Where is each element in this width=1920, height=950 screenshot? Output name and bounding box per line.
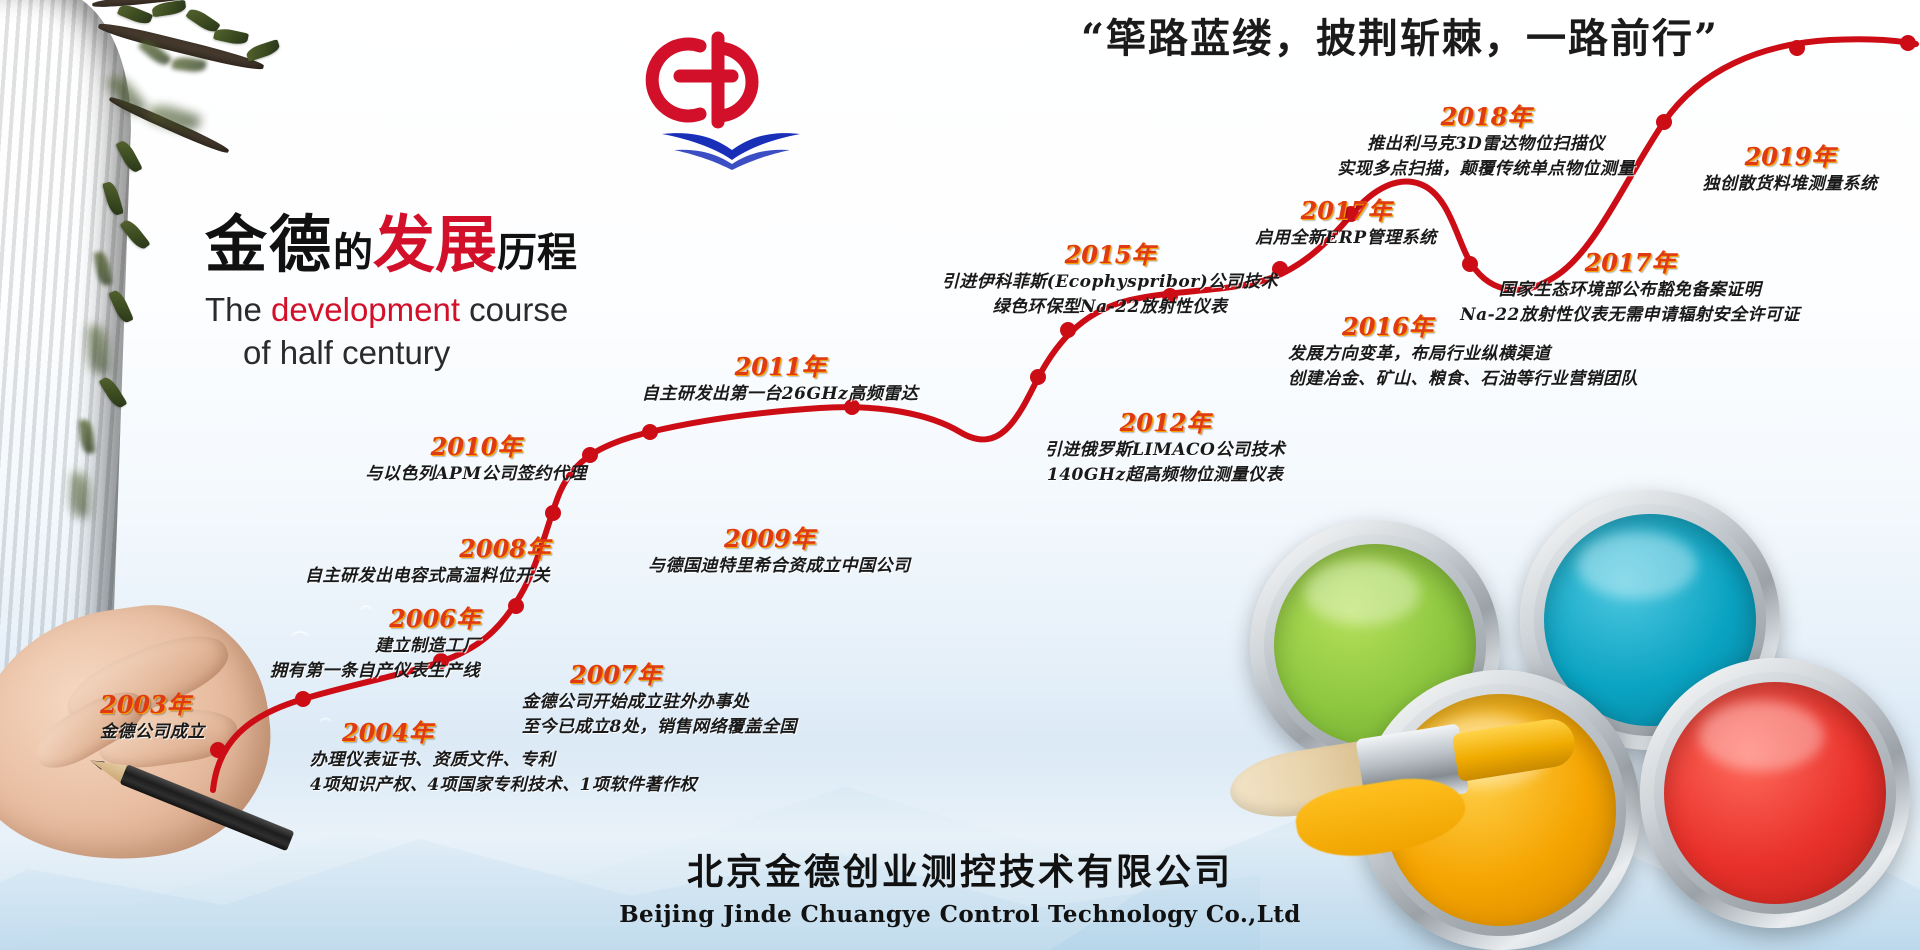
title-block: 金德的发展历程 The development course of half c… [205, 212, 725, 375]
milestone-line: 绿色环保型Na-22放射性仪表 [910, 295, 1310, 320]
milestone-line: 启用全新ERP管理系统 [1196, 226, 1496, 251]
node-2007 [508, 598, 524, 614]
tree-branch [97, 20, 265, 74]
milestone-line: 实现多点扫描，颠覆传统单点物位测量 [1276, 157, 1696, 182]
green-paint-can [1250, 520, 1500, 770]
milestone-2015: 2015年 引进伊科菲斯(Ecophyspribor)公司技术 绿色环保型Na-… [910, 240, 1310, 319]
milestone-2010: 2010年 与以色列APM公司签约代理 [336, 432, 616, 487]
poster-slogan: “筚路蓝缕，披荆斩棘，一路前行” [960, 6, 1840, 64]
brush-ferrule [1356, 723, 1470, 808]
milestone-line: 140GHz超高频物位测量仪表 [1000, 463, 1330, 488]
milestone-2011: 2011年 自主研发出第一台26GHz高频雷达 [620, 352, 940, 407]
milestone-line: 自主研发出第一台26GHz高频雷达 [620, 382, 940, 407]
pencil-body [120, 764, 295, 851]
milestone-2012: 2012年 引进俄罗斯LIMACO公司技术 140GHz超高频物位测量仪表 [1000, 408, 1330, 487]
poster-canvas: ︵ ︵ ︵ ︵ ︵ ︵ [0, 0, 1920, 950]
milestone-year: 2017年 [1420, 248, 1840, 278]
milestone-2003: 2003年 金德公司成立 [100, 690, 205, 745]
bird-icon: ︵ [252, 700, 264, 712]
brush-handle [1452, 716, 1578, 782]
milestone-line: 与以色列APM公司签约代理 [336, 462, 616, 487]
milestone-line: 自主研发出电容式高温料位开关 [240, 564, 550, 589]
title-suffix: 历程 [497, 229, 577, 276]
node-2015 [1030, 369, 1046, 385]
node-2011 [642, 424, 658, 440]
tree-branch [92, 0, 212, 9]
milestone-line: 拥有第一条自产仪表生产线 [160, 659, 480, 684]
company-name-en: Beijing Jinde Chuangye Control Technolog… [0, 901, 1920, 928]
milestone-line: 发展方向变革，布局行业纵横渠道 [1288, 342, 1638, 367]
node-end2 [1900, 35, 1916, 51]
milestone-2009: 2009年 与德国迪特里希合资成立中国公司 [648, 524, 911, 579]
milestone-year: 2018年 [1276, 102, 1696, 132]
title-highlight: 发展 [373, 208, 497, 281]
milestone-line: 金德公司开始成立驻外办事处 [522, 690, 797, 715]
page-title: 金德的发展历程 [205, 212, 725, 277]
milestone-year: 2011年 [620, 352, 940, 382]
node-2008 [545, 505, 561, 521]
milestone-line: 引进伊科菲斯(Ecophyspribor)公司技术 [910, 270, 1310, 295]
pencil-tip [86, 751, 131, 785]
milestone-year: 2012年 [1000, 408, 1330, 438]
milestone-line: Na-22放射性仪表无需申请辐射安全许可证 [1420, 303, 1840, 328]
milestone-line: 推出利马克3D雷达物位扫描仪 [1276, 132, 1696, 157]
milestone-line: 引进俄罗斯LIMACO公司技术 [1000, 438, 1330, 463]
milestone-year: 2010年 [336, 432, 616, 462]
milestone-line: 办理仪表证书、资质文件、专利 [310, 748, 697, 773]
company-footer: 北京金德创业测控技术有限公司 Beijing Jinde Chuangye Co… [0, 843, 1920, 928]
subtitle-c: course [460, 291, 568, 328]
milestone-2017-na22: 2017年 国家生态环境部公布豁免备案证明 Na-22放射性仪表无需申请辐射安全… [1420, 248, 1840, 327]
brush-bristles [1225, 739, 1383, 826]
milestone-2018: 2018年 推出利马克3D雷达物位扫描仪 实现多点扫描，颠覆传统单点物位测量 [1276, 102, 1696, 181]
milestone-2008: 2008年 自主研发出电容式高温料位开关 [240, 534, 550, 589]
milestone-line: 4项知识产权、4项国家专利技术、1项软件著作权 [310, 773, 697, 798]
milestone-line: 与德国迪特里希合资成立中国公司 [648, 554, 911, 579]
milestone-line: 创建冶金、矿山、粮食、石油等行业营销团队 [1288, 367, 1638, 392]
milestone-year: 2006年 [160, 604, 480, 634]
title-particle: 的 [333, 229, 373, 276]
tree-branch [108, 94, 231, 156]
node-2016 [1060, 322, 1076, 338]
milestone-2019: 2019年 独创散货料堆测量系统 [1660, 142, 1920, 197]
paint-brush [1223, 693, 1568, 863]
bird-icon: ︵ [120, 612, 136, 628]
milestone-line: 建立制造工厂 [160, 634, 480, 659]
node-2003 [210, 742, 226, 758]
milestone-year: 2017年 [1196, 196, 1496, 226]
milestone-year: 2019年 [1660, 142, 1920, 172]
jinde-company-logo [640, 18, 820, 178]
subtitle-highlight: development [271, 291, 460, 328]
milestone-year: 2003年 [100, 690, 205, 720]
node-2004 [295, 691, 311, 707]
milestone-2006: 2006年 建立制造工厂 拥有第一条自产仪表生产线 [160, 604, 480, 683]
cyan-paint-can [1520, 490, 1780, 750]
milestone-2007: 2007年 金德公司开始成立驻外办事处 至今已成立8处，销售网络覆盖全国 [522, 660, 797, 739]
pencil-lead [89, 756, 105, 770]
pencil [86, 751, 294, 852]
milestone-year: 2009年 [648, 524, 911, 554]
milestone-line: 金德公司成立 [100, 720, 205, 745]
milestone-2017-erp: 2017年 启用全新ERP管理系统 [1196, 196, 1496, 251]
milestone-year: 2008年 [240, 534, 550, 564]
milestone-line: 独创散货料堆测量系统 [1660, 172, 1920, 197]
company-name-cn: 北京金德创业测控技术有限公司 [0, 843, 1920, 895]
milestone-line: 国家生态环境部公布豁免备案证明 [1420, 278, 1840, 303]
title-brand: 金德 [205, 208, 333, 281]
milestone-year: 2007年 [522, 660, 797, 690]
subtitle-a: The [205, 291, 271, 328]
tree-trunk [0, 0, 136, 772]
milestone-line: 至今已成立8处，销售网络覆盖全国 [522, 715, 797, 740]
